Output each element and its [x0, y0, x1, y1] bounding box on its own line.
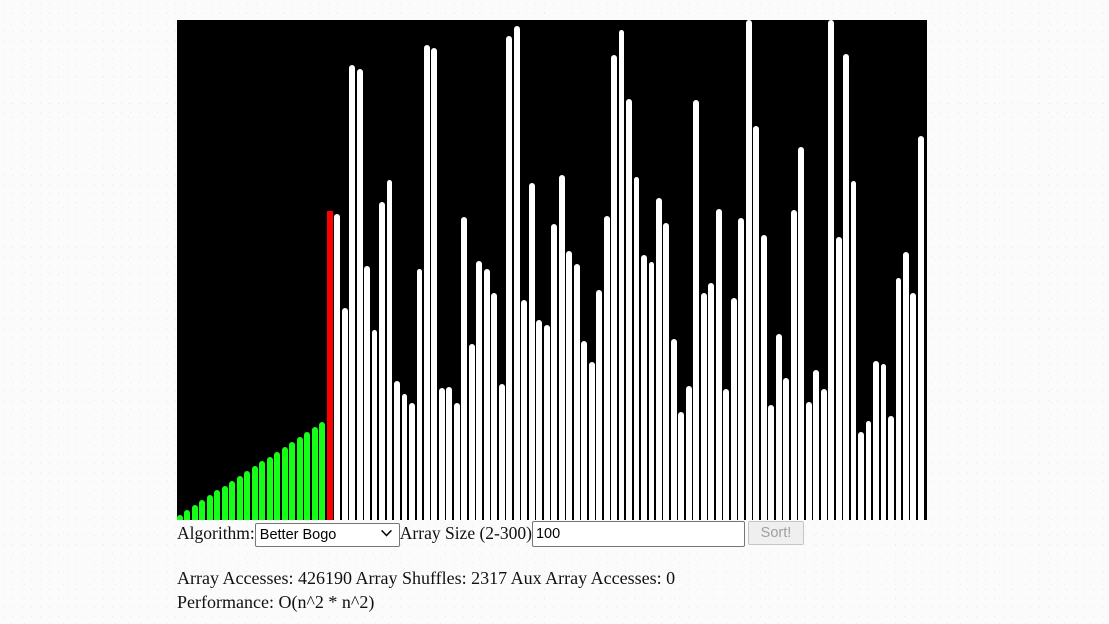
bar: [342, 308, 348, 520]
bar: [372, 330, 378, 520]
bar: [566, 251, 572, 520]
bar: [903, 252, 909, 520]
bar: [881, 364, 887, 520]
bar: [619, 30, 625, 520]
bar: [753, 126, 759, 520]
bar: [641, 255, 647, 520]
bar: [836, 237, 842, 520]
bar: [731, 298, 737, 520]
bar: [409, 403, 415, 520]
bar: [252, 466, 258, 520]
bar: [843, 54, 849, 520]
bar: [746, 20, 752, 520]
bar: [357, 69, 363, 520]
bar: [574, 264, 580, 520]
bar: [469, 344, 475, 520]
bar: [259, 461, 265, 520]
bar: [768, 405, 774, 520]
bar: [319, 422, 325, 520]
bar: [454, 403, 460, 520]
bar: [656, 198, 662, 520]
bar: [349, 65, 355, 520]
algorithm-select-wrapper[interactable]: Better Bogo: [255, 520, 400, 546]
bar: [716, 209, 722, 520]
visualizer-canvas: [177, 20, 927, 520]
bar: [686, 386, 692, 520]
bar: [828, 20, 834, 520]
bar: [327, 211, 333, 520]
bar: [491, 293, 497, 520]
bar: [896, 278, 902, 520]
bar: [229, 481, 235, 520]
bar: [821, 389, 827, 520]
bar: [708, 283, 714, 520]
bar: [289, 442, 295, 520]
bar: [476, 261, 482, 520]
bar: [214, 490, 220, 520]
array-access-stats-line: Array Accesses: 426190 Array Shuffles: 2…: [177, 566, 927, 590]
bar: [244, 471, 250, 520]
bar: [312, 427, 318, 520]
bar: [806, 402, 812, 520]
bar: [484, 269, 490, 520]
bar: [559, 175, 565, 520]
bar: [394, 381, 400, 520]
bar: [506, 36, 512, 520]
bar: [529, 183, 535, 520]
bar: [417, 269, 423, 520]
bar: [199, 500, 205, 520]
bar: [581, 341, 587, 520]
bar: [866, 421, 872, 520]
bar: [439, 388, 445, 520]
bar: [798, 147, 804, 520]
bar-chart: [177, 20, 927, 520]
bar: [192, 505, 198, 520]
bar: [334, 214, 340, 520]
bar: [282, 447, 288, 520]
bar: [379, 202, 385, 520]
bar: [783, 378, 789, 520]
bar: [589, 362, 595, 520]
bar: [364, 266, 370, 520]
bar: [611, 55, 617, 520]
bar: [304, 432, 310, 520]
bar: [387, 180, 393, 520]
bar: [738, 218, 744, 520]
bar: [514, 26, 520, 520]
bar: [431, 48, 437, 520]
bar: [851, 181, 857, 520]
bar: [267, 457, 273, 520]
controls-bar: Algorithm: Better Bogo Array Size (2-300…: [177, 520, 927, 546]
bar: [723, 389, 729, 520]
bar: [813, 370, 819, 520]
bar: [678, 412, 684, 520]
bar: [424, 45, 430, 520]
algorithm-label: Algorithm:: [177, 520, 255, 546]
bar: [693, 100, 699, 520]
algorithm-select[interactable]: Better Bogo: [255, 523, 400, 547]
bar: [918, 136, 924, 520]
bar: [888, 416, 894, 520]
bar: [521, 300, 527, 520]
bar: [776, 334, 782, 520]
bar: [663, 223, 669, 520]
bar: [499, 384, 505, 520]
bar: [626, 99, 632, 520]
bar: [596, 290, 602, 520]
bar: [446, 387, 452, 520]
performance-stats-line: Performance: O(n^2 * n^2): [177, 590, 927, 614]
array-size-input[interactable]: [532, 521, 745, 547]
bar: [536, 320, 542, 520]
bar: [873, 361, 879, 520]
bar: [402, 394, 408, 520]
bar: [544, 325, 550, 520]
bar: [791, 210, 797, 520]
sort-button[interactable]: Sort!: [748, 521, 804, 545]
bar: [207, 495, 213, 520]
bar: [701, 293, 707, 520]
bar: [222, 486, 228, 520]
bar: [461, 217, 467, 520]
bar: [671, 339, 677, 520]
bar: [274, 452, 280, 520]
bar: [177, 515, 183, 520]
bar: [634, 177, 640, 520]
bar: [551, 224, 557, 520]
bar: [297, 437, 303, 520]
bar: [910, 293, 916, 520]
bar: [184, 510, 190, 520]
statistics-panel: Array Accesses: 426190 Array Shuffles: 2…: [177, 566, 927, 614]
bar: [858, 432, 864, 520]
array-size-label: Array Size (2-300): [400, 520, 532, 546]
sorting-visualizer-app: Algorithm: Better Bogo Array Size (2-300…: [177, 20, 927, 614]
bar: [604, 216, 610, 520]
bar: [761, 235, 767, 520]
bar: [649, 262, 655, 520]
bar: [237, 476, 243, 520]
